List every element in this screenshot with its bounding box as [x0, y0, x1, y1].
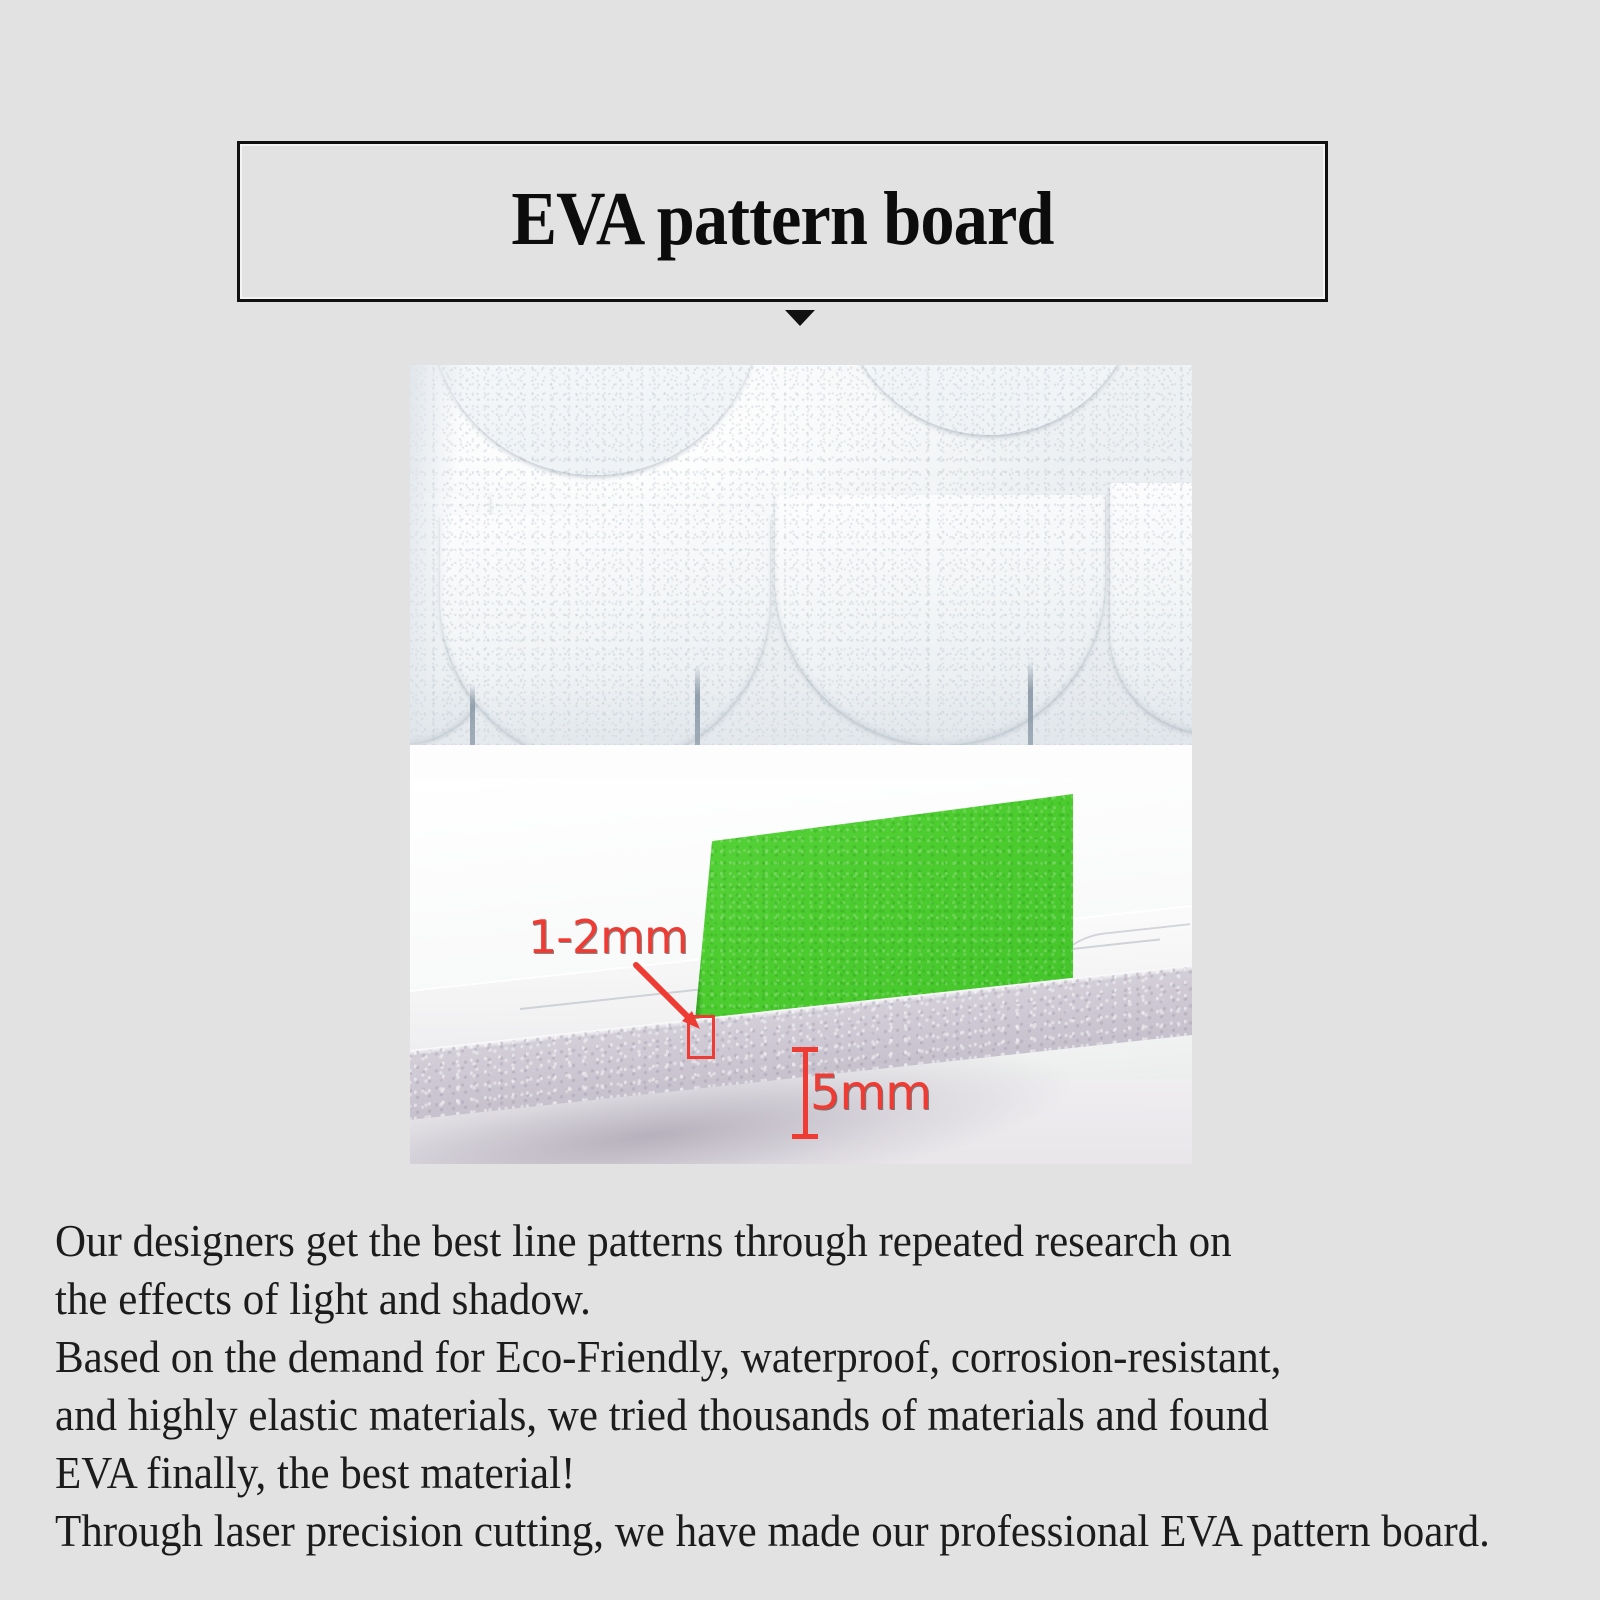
description-line: Our designers get the best line patterns… — [55, 1212, 1488, 1270]
description-line: the effects of light and shadow. — [55, 1270, 1488, 1328]
page-title: EVA pattern board — [292, 141, 1274, 302]
description-line: Based on the demand for Eco-Friendly, wa… — [55, 1328, 1488, 1386]
product-image-stack: 1-2mm 5mm — [410, 365, 1192, 1164]
dimension-bar — [803, 1047, 808, 1139]
title-banner: EVA pattern board — [237, 141, 1328, 302]
groove-depth-highlight-box — [687, 1015, 715, 1059]
groove-depth-label: 1-2mm — [528, 914, 688, 960]
photo-separator-band — [410, 745, 1192, 779]
description-line: Through laser precision cutting, we have… — [55, 1502, 1488, 1560]
description-text: Our designers get the best line patterns… — [55, 1212, 1555, 1560]
board-thickness-label: 5mm — [810, 1069, 931, 1117]
scallop-pattern-photo — [410, 365, 1192, 745]
description-line: EVA finally, the best material! — [55, 1444, 1488, 1502]
groove-detail-photo: 1-2mm 5mm — [410, 779, 1192, 1164]
dimension-cap-bottom — [792, 1134, 818, 1139]
description-line: and highly elastic materials, we tried t… — [55, 1386, 1488, 1444]
chevron-down-triangle-icon — [785, 310, 815, 326]
foam-grain-texture — [410, 365, 1192, 745]
